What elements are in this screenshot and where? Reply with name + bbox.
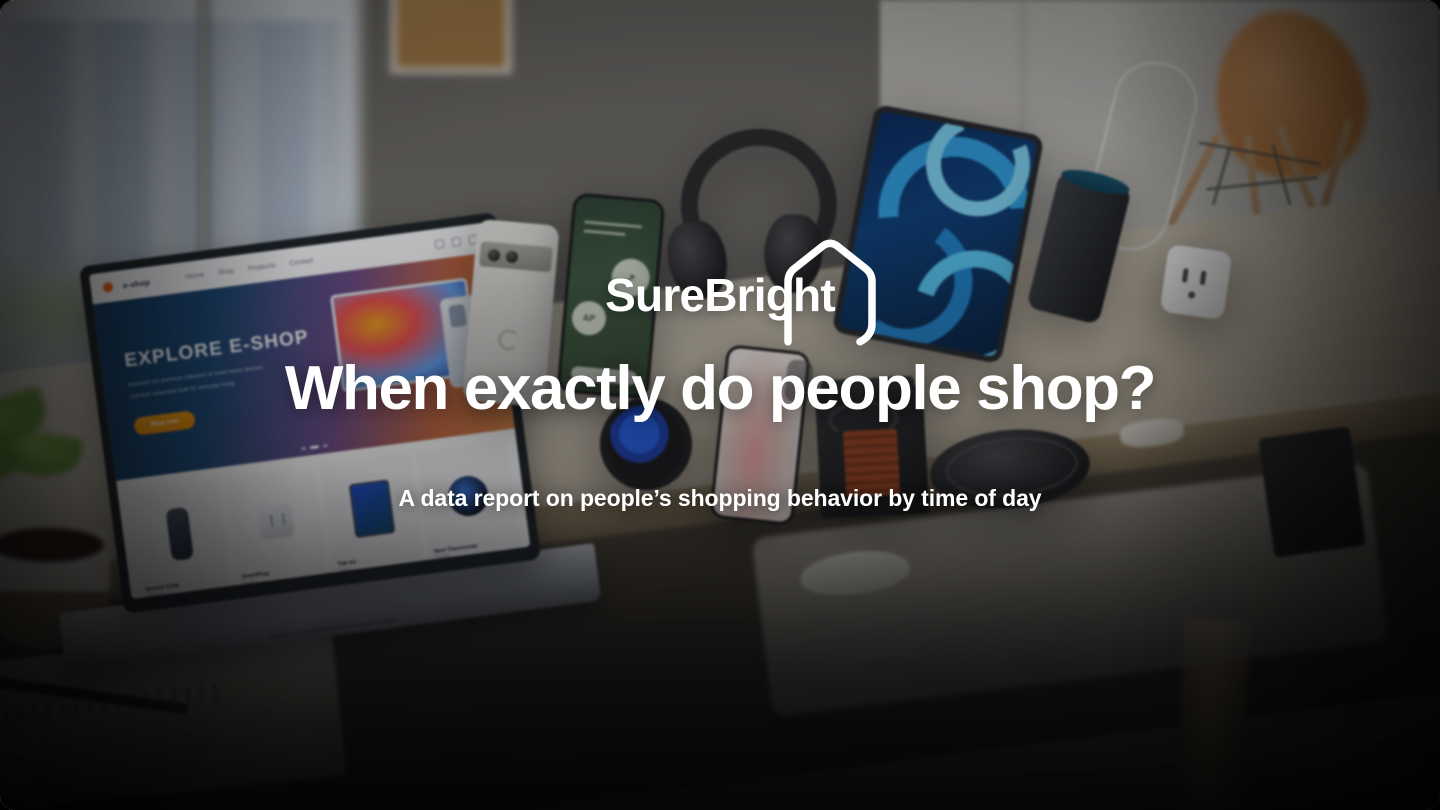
page-title: When exactly do people shop? [285, 356, 1155, 421]
title-overlay: SureBright When exactly do people shop? … [0, 0, 1440, 810]
brand-lockup: SureBright [605, 272, 835, 318]
house-outline-icon [774, 238, 886, 348]
page-subtitle: A data report on people’s shopping behav… [399, 485, 1042, 512]
title-slide: e-shop Home Shop Products Contact [0, 0, 1440, 810]
